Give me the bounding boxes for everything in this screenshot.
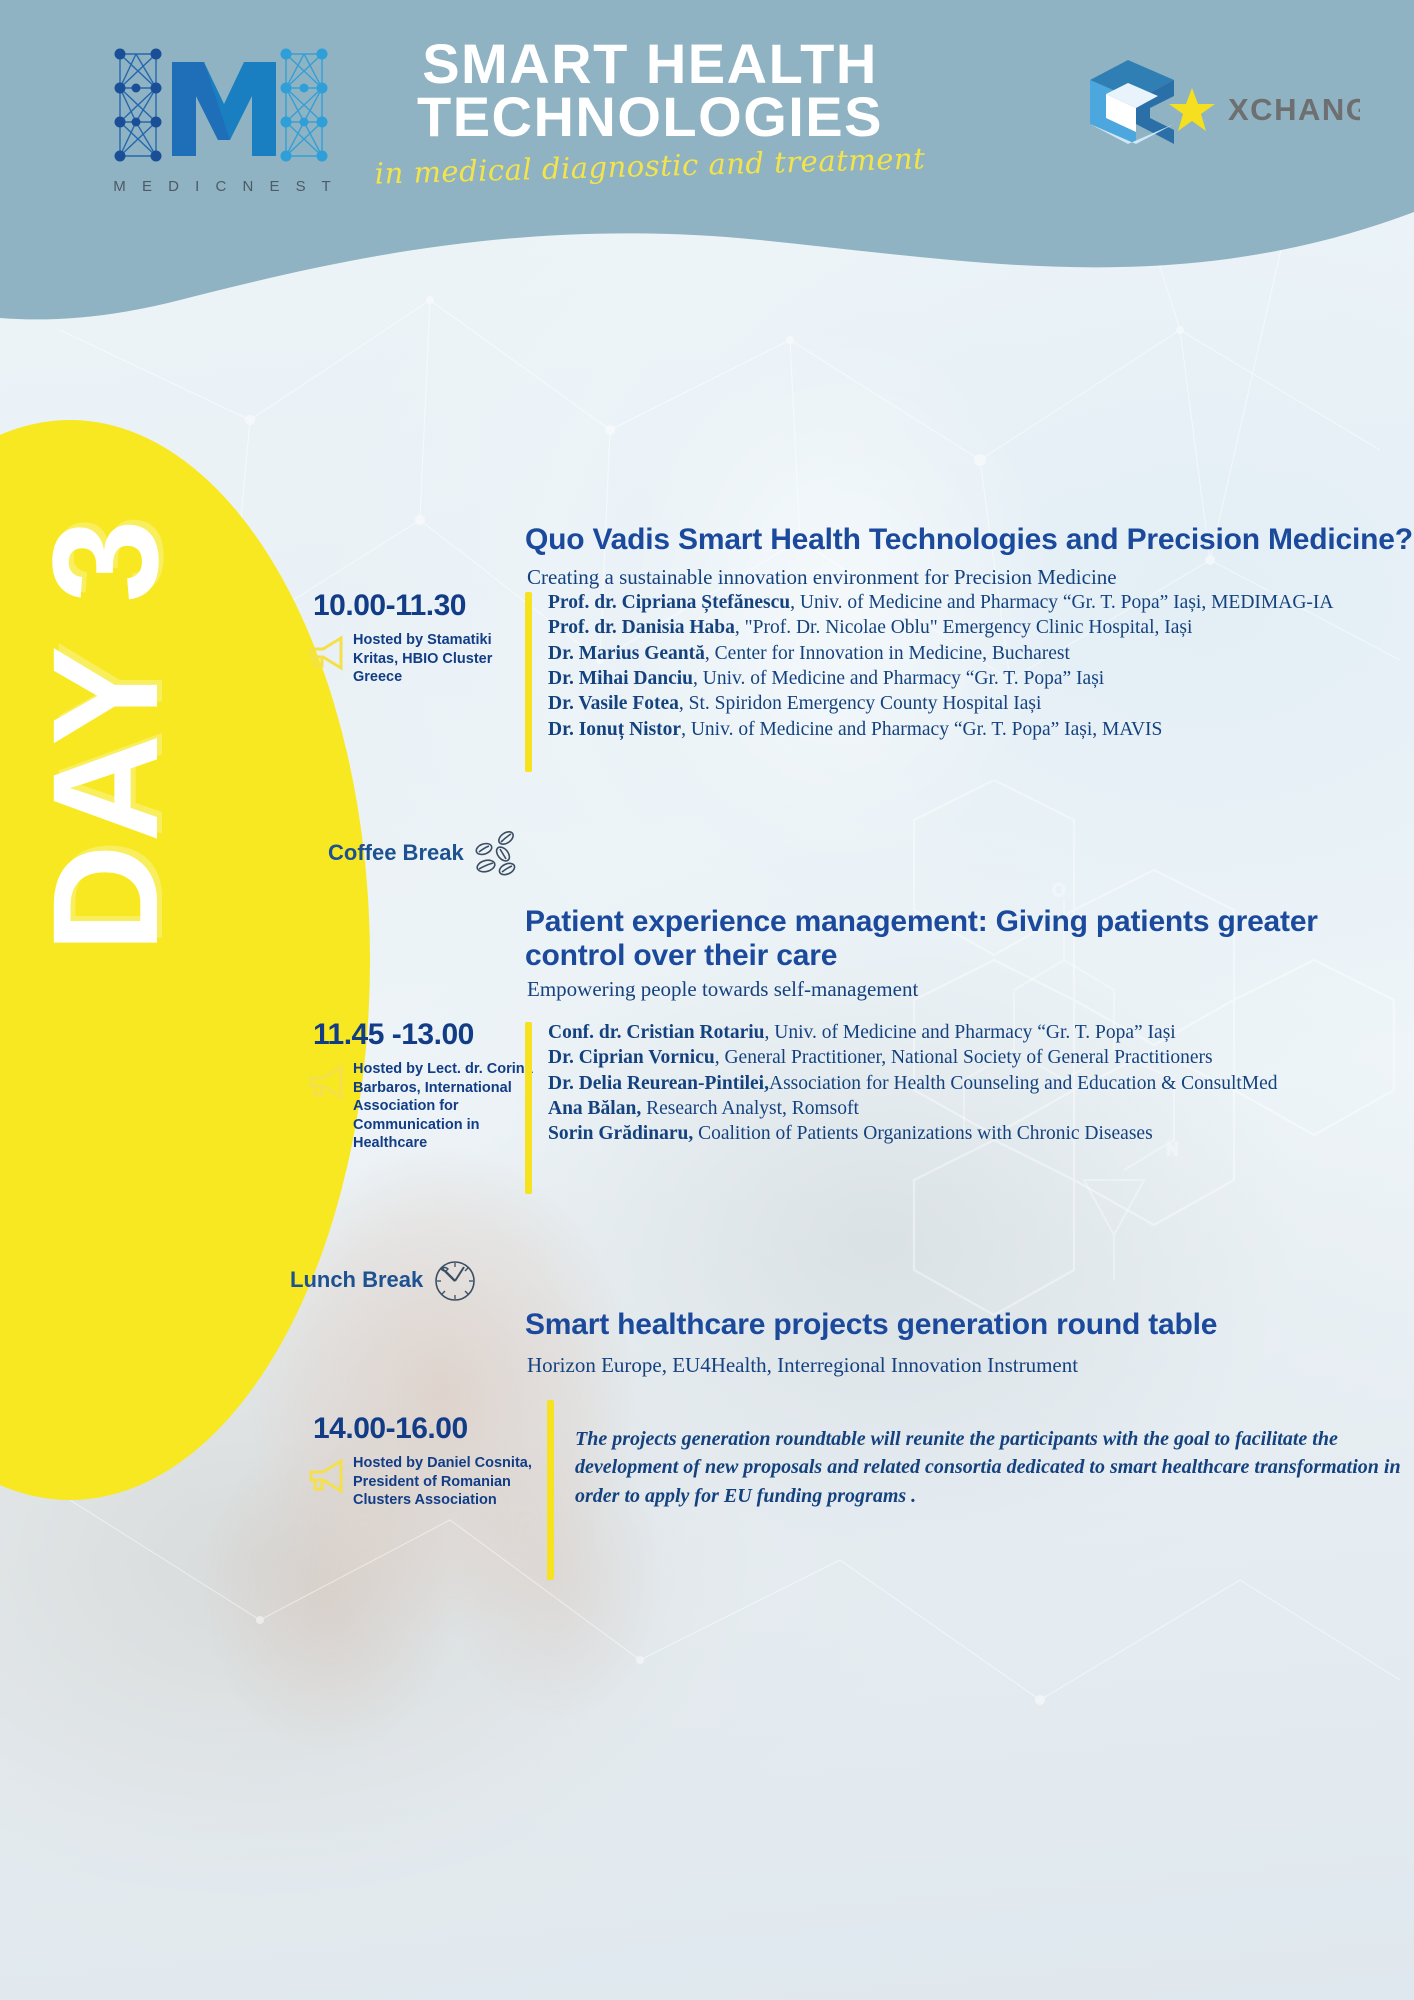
speaker-row: Prof. dr. Cipriana Ștefănescu, Univ. of … — [548, 590, 1408, 615]
coffee-break: Coffee Break — [328, 828, 522, 878]
megaphone-icon — [307, 633, 351, 673]
speaker-row: Sorin Grădinaru, Coalition of Patients O… — [548, 1121, 1414, 1146]
session-2-subtitle: Empowering people towards self-managemen… — [527, 977, 1407, 1002]
session-2-time-group: 11.45 -13.00 Hosted by Lect. dr. Corina … — [313, 1018, 533, 1153]
coffee-break-label: Coffee Break — [328, 840, 464, 866]
session-3-subtitle: Horizon Europe, EU4Health, Interregional… — [527, 1353, 1407, 1378]
speaker-row: Dr. Mihai Danciu, Univ. of Medicine and … — [548, 666, 1408, 691]
agenda-container: Quo Vadis Smart Health Technologies and … — [0, 0, 1414, 2000]
session-1-host: Hosted by Stamatiki Kritas, HBIO Cluster… — [313, 631, 523, 687]
session-1-time: 10.00-11.30 — [313, 589, 523, 623]
lunch-break: Lunch Break — [290, 1255, 479, 1305]
coffee-beans-icon — [470, 828, 522, 878]
session-3-accent-bar — [547, 1400, 554, 1580]
session-2-host-text: Hosted by Lect. dr. Corina Barbaros, Int… — [353, 1061, 533, 1151]
speaker-row: Dr. Ciprian Vornicu, General Practitione… — [548, 1045, 1414, 1070]
session-2-host: Hosted by Lect. dr. Corina Barbaros, Int… — [313, 1060, 533, 1153]
speaker-row: Dr. Vasile Fotea, St. Spiridon Emergency… — [548, 691, 1408, 716]
speaker-row: Dr. Delia Reurean-Pintilei,Association f… — [548, 1071, 1414, 1096]
session-3-time-group: 14.00-16.00 Hosted by Daniel Cosnita, Pr… — [313, 1412, 533, 1510]
session-3-title: Smart healthcare projects generation rou… — [525, 1308, 1414, 1342]
session-3-description: The projects generation roundtable will … — [575, 1425, 1414, 1510]
speaker-row: Dr. Marius Geantă, Center for Innovation… — [548, 641, 1408, 666]
session-1-accent-bar — [525, 592, 532, 772]
session-1-subtitle: Creating a sustainable innovation enviro… — [527, 565, 1407, 590]
speaker-row: Conf. dr. Cristian Rotariu, Univ. of Med… — [548, 1020, 1414, 1045]
session-1-speakers: Prof. dr. Cipriana Ștefănescu, Univ. of … — [548, 590, 1408, 742]
session-1-time-group: 10.00-11.30 Hosted by Stamatiki Kritas, … — [313, 589, 523, 687]
megaphone-icon — [307, 1456, 351, 1496]
session-2-speakers: Conf. dr. Cristian Rotariu, Univ. of Med… — [548, 1020, 1414, 1147]
megaphone-icon — [307, 1062, 351, 1102]
speaker-row: Ana Bălan, Research Analyst, Romsoft — [548, 1096, 1414, 1121]
session-1-title: Quo Vadis Smart Health Technologies and … — [525, 523, 1414, 557]
speaker-row: Prof. dr. Danisia Haba, "Prof. Dr. Nicol… — [548, 615, 1408, 640]
speaker-row: Dr. Ionuț Nistor, Univ. of Medicine and … — [548, 717, 1408, 742]
clock-icon — [429, 1255, 479, 1305]
session-2-accent-bar — [525, 1022, 532, 1194]
session-2-time: 11.45 -13.00 — [313, 1018, 533, 1052]
session-3-time: 14.00-16.00 — [313, 1412, 533, 1446]
session-1-host-text: Hosted by Stamatiki Kritas, HBIO Cluster… — [353, 632, 492, 685]
session-3-host-text: Hosted by Daniel Cosnita, President of R… — [353, 1455, 532, 1508]
lunch-break-label: Lunch Break — [290, 1267, 423, 1293]
session-3-host: Hosted by Daniel Cosnita, President of R… — [313, 1454, 533, 1510]
session-2-title: Patient experience management: Giving pa… — [525, 905, 1325, 972]
